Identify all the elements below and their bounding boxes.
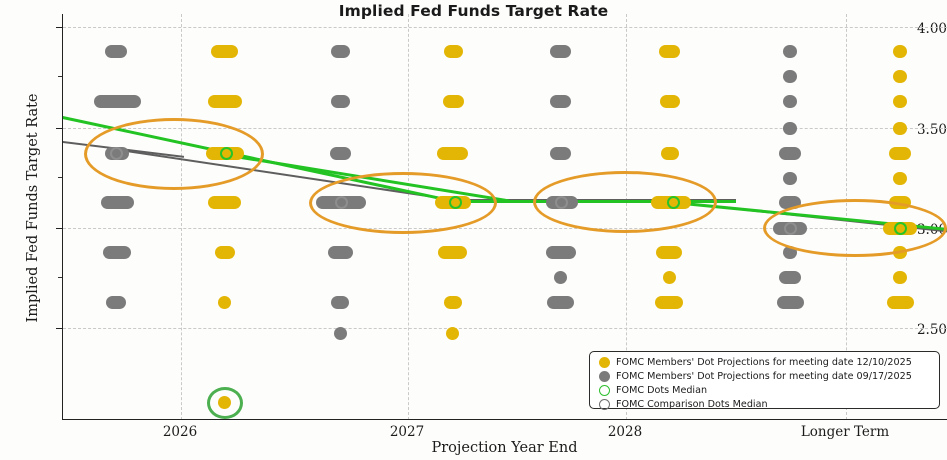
annotation-ellipse-2027: [309, 172, 497, 234]
dot-gold-lt-2750: [893, 271, 907, 284]
dot-gold-2028-2875: [656, 246, 682, 259]
dot-grey-2026-3875: [105, 45, 127, 58]
annotation-circle-2026-outlier: [207, 387, 243, 419]
dot-grey-lt-3625: [783, 95, 797, 108]
x-axis-title: Projection Year End: [62, 440, 947, 456]
legend: FOMC Members' Dot Projections for meetin…: [589, 351, 940, 409]
legend-label-gold-dots: FOMC Members' Dot Projections for meetin…: [616, 357, 912, 368]
dot-gold-2026-3125: [208, 196, 241, 209]
gridline-2026: [181, 14, 182, 420]
dot-grey-2028-2625: [547, 296, 574, 309]
x-tick-label-2027: 2027: [362, 424, 452, 440]
y-axis-title: Implied Fed Funds Target Rate: [25, 78, 41, 338]
dot-gold-lt-3625: [893, 95, 907, 108]
dot-grey-2028-3375: [550, 147, 571, 160]
gridline-2-50: [63, 328, 947, 329]
dot-gold-lt-3750: [893, 70, 907, 83]
dot-grey-2028-3625: [550, 95, 571, 108]
dot-grey-lt-3375: [779, 147, 801, 160]
dot-gold-lt-3375: [889, 147, 911, 160]
legend-label-comparison-median: FOMC Comparison Dots Median: [616, 399, 768, 410]
dot-grey-2026-2625: [106, 296, 126, 309]
legend-label-grey-dots: FOMC Members' Dot Projections for meetin…: [616, 371, 912, 382]
dot-grey-2027-2625: [331, 296, 349, 309]
dot-grey-lt-3250: [783, 172, 797, 185]
dot-gold-2028-3375: [661, 147, 679, 160]
dot-gold-lt-3250: [893, 172, 907, 185]
x-tick-label-2026: 2026: [135, 424, 225, 440]
green-open-circle-icon: [599, 385, 610, 396]
dot-gold-2028-3625: [660, 95, 680, 108]
dot-grey-2027-3625: [331, 95, 350, 108]
dot-grey-lt-3750: [783, 70, 797, 83]
dot-gold-lt-2625: [887, 296, 914, 309]
fed-dot-plot-chart: Implied Fed Funds Target Rate Implied Fe…: [0, 0, 947, 460]
gridline-4-00: [63, 27, 947, 28]
dot-grey-2026-2875: [103, 246, 131, 259]
gold-filled-circle-icon: [599, 357, 610, 368]
dot-gold-2027-3875: [444, 45, 463, 58]
dot-grey-2026-3625: [94, 95, 141, 108]
dot-grey-2028-2750: [554, 271, 567, 284]
dot-gold-2027-2375: [446, 327, 459, 340]
legend-item-gold-dots[interactable]: FOMC Members' Dot Projections for meetin…: [596, 356, 933, 369]
dot-gold-2028-2625: [655, 296, 683, 309]
dot-grey-lt-2625: [777, 296, 804, 309]
legend-item-dots-median[interactable]: FOMC Dots Median: [596, 384, 933, 397]
legend-item-comparison-median[interactable]: FOMC Comparison Dots Median: [596, 398, 933, 411]
dot-gold-2026-3875: [211, 45, 238, 58]
dot-grey-lt-3500: [783, 122, 797, 135]
annotation-ellipse-2026: [84, 118, 264, 190]
dot-grey-2027-2875: [328, 246, 353, 259]
dot-grey-2027-2375: [334, 327, 347, 340]
dot-gold-2027-2625: [444, 296, 462, 309]
dot-gold-2027-2875: [438, 246, 467, 259]
dot-gold-2028-2750: [663, 271, 676, 284]
dot-grey-2028-3875: [550, 45, 571, 58]
annotation-ellipse-longer-term: [763, 199, 947, 257]
grey-filled-circle-icon: [599, 371, 610, 382]
dot-grey-2027-3875: [331, 45, 350, 58]
dot-grey-lt-2750: [779, 271, 801, 284]
legend-label-dots-median: FOMC Dots Median: [616, 385, 707, 396]
dot-gold-2026-2875: [215, 246, 235, 259]
dot-gold-2026-2625: [218, 296, 231, 309]
grey-open-circle-icon: [599, 399, 610, 410]
legend-item-grey-dots[interactable]: FOMC Members' Dot Projections for meetin…: [596, 370, 933, 383]
dot-gold-lt-3875: [893, 45, 907, 58]
dot-gold-2028-3875: [659, 45, 680, 58]
dot-grey-lt-3875: [783, 45, 797, 58]
x-tick-label-longer-term: Longer Term: [790, 424, 900, 440]
dot-gold-lt-3500: [893, 122, 907, 135]
x-tick-label-2028: 2028: [580, 424, 670, 440]
annotation-ellipse-2028: [533, 171, 717, 233]
dot-gold-2027-3375: [437, 147, 468, 160]
dot-grey-2028-2875: [546, 246, 576, 259]
dot-gold-2026-3625: [208, 95, 242, 108]
dot-gold-2027-3625: [443, 95, 464, 108]
dot-grey-2027-3375: [330, 147, 351, 160]
dot-grey-2026-3125: [101, 196, 134, 209]
